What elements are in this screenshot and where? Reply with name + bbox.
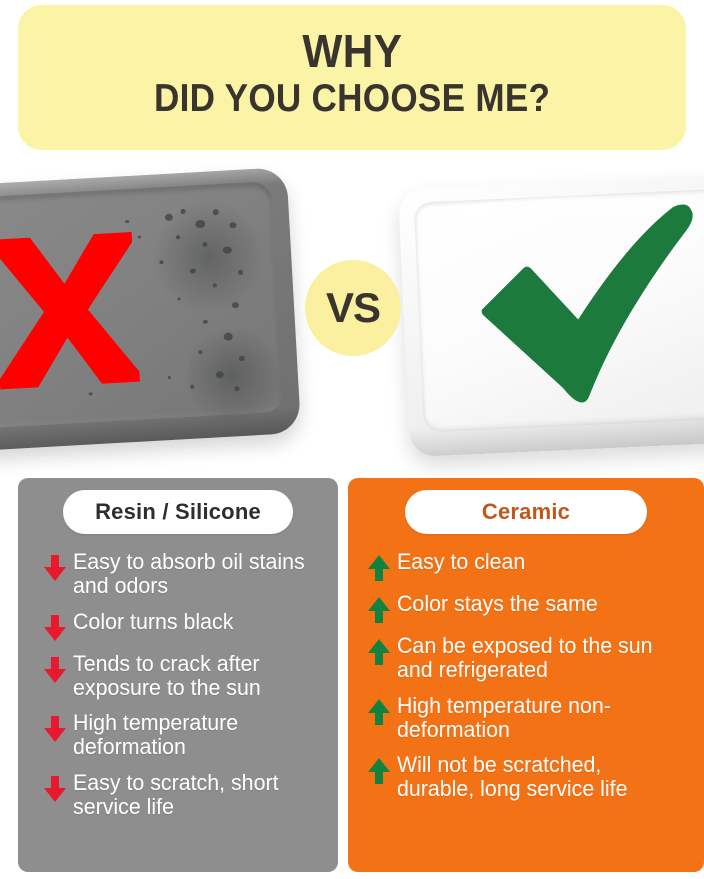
arrow-down-icon	[44, 776, 66, 802]
panel-right-title: Ceramic	[482, 499, 570, 525]
list-item-label: Easy to clean	[397, 550, 525, 574]
list-item-label: Will not be scratched, durable, long ser…	[397, 753, 679, 802]
banner-title-line1: WHY	[302, 28, 402, 75]
list-item-label: Easy to absorb oil stains and odors	[73, 550, 315, 599]
arrow-down-icon	[44, 716, 66, 742]
gray-tray-body	[0, 167, 301, 453]
list-item-label: Easy to scratch, short service life	[73, 771, 315, 820]
list-item-label: Can be exposed to the sun and refrigerat…	[397, 634, 679, 683]
white-ceramic-tray-image	[398, 173, 704, 457]
list-item: Will not be scratched, durable, long ser…	[368, 753, 694, 802]
arrow-down-icon	[44, 657, 66, 683]
list-item-label: Tends to crack after exposure to the sun	[73, 652, 315, 701]
arrow-up-icon	[368, 699, 390, 725]
list-item-label: High temperature deformation	[73, 711, 315, 760]
list-item: Color stays the same	[368, 592, 694, 623]
vs-label: VS	[326, 284, 380, 332]
list-item: Easy to absorb oil stains and odors	[44, 550, 328, 599]
header-banner: WHY DID YOU CHOOSE ME?	[18, 5, 686, 150]
panel-left-title: Resin / Silicone	[95, 499, 261, 525]
list-item: High temperature non-deformation	[368, 694, 694, 743]
arrow-down-icon	[44, 615, 66, 641]
list-item: Color turns black	[44, 610, 328, 641]
arrow-up-icon	[368, 639, 390, 665]
red-x-icon	[0, 232, 140, 390]
comparison-panels: Resin / Silicone Easy to absorb oil stai…	[0, 478, 704, 874]
panel-right-title-pill: Ceramic	[405, 490, 647, 534]
white-tray-body	[398, 173, 704, 457]
mold-spot	[168, 376, 171, 379]
arrow-up-icon	[368, 758, 390, 784]
list-item: High temperature deformation	[44, 711, 328, 760]
list-item-label: Color stays the same	[397, 592, 598, 616]
list-item-label: Color turns black	[73, 610, 233, 634]
panel-left-title-pill: Resin / Silicone	[63, 490, 293, 534]
list-item-label: High temperature non-deformation	[397, 694, 679, 743]
green-check-icon	[477, 204, 704, 414]
arrow-up-icon	[368, 555, 390, 581]
list-item: Tends to crack after exposure to the sun	[44, 652, 328, 701]
list-item: Can be exposed to the sun and refrigerat…	[368, 634, 694, 683]
list-item: Easy to scratch, short service life	[44, 771, 328, 820]
gray-resin-silicone-tray-image	[0, 167, 301, 453]
vs-badge: VS	[305, 260, 401, 356]
arrow-down-icon	[44, 555, 66, 581]
panel-resin-silicone: Resin / Silicone Easy to absorb oil stai…	[18, 478, 338, 872]
panel-ceramic: Ceramic Easy to clean	[348, 478, 704, 872]
list-item: Easy to clean	[368, 550, 694, 581]
banner-title-line2: DID YOU CHOOSE ME?	[154, 75, 550, 124]
resin-silicone-feature-list: Easy to absorb oil stains and odors Colo…	[28, 550, 328, 819]
infographic-page: WHY DID YOU CHOOSE ME?	[0, 0, 704, 879]
ceramic-feature-list: Easy to clean Color stays the same	[358, 550, 694, 802]
product-comparison-images: VS	[0, 155, 704, 470]
arrow-up-icon	[368, 597, 390, 623]
